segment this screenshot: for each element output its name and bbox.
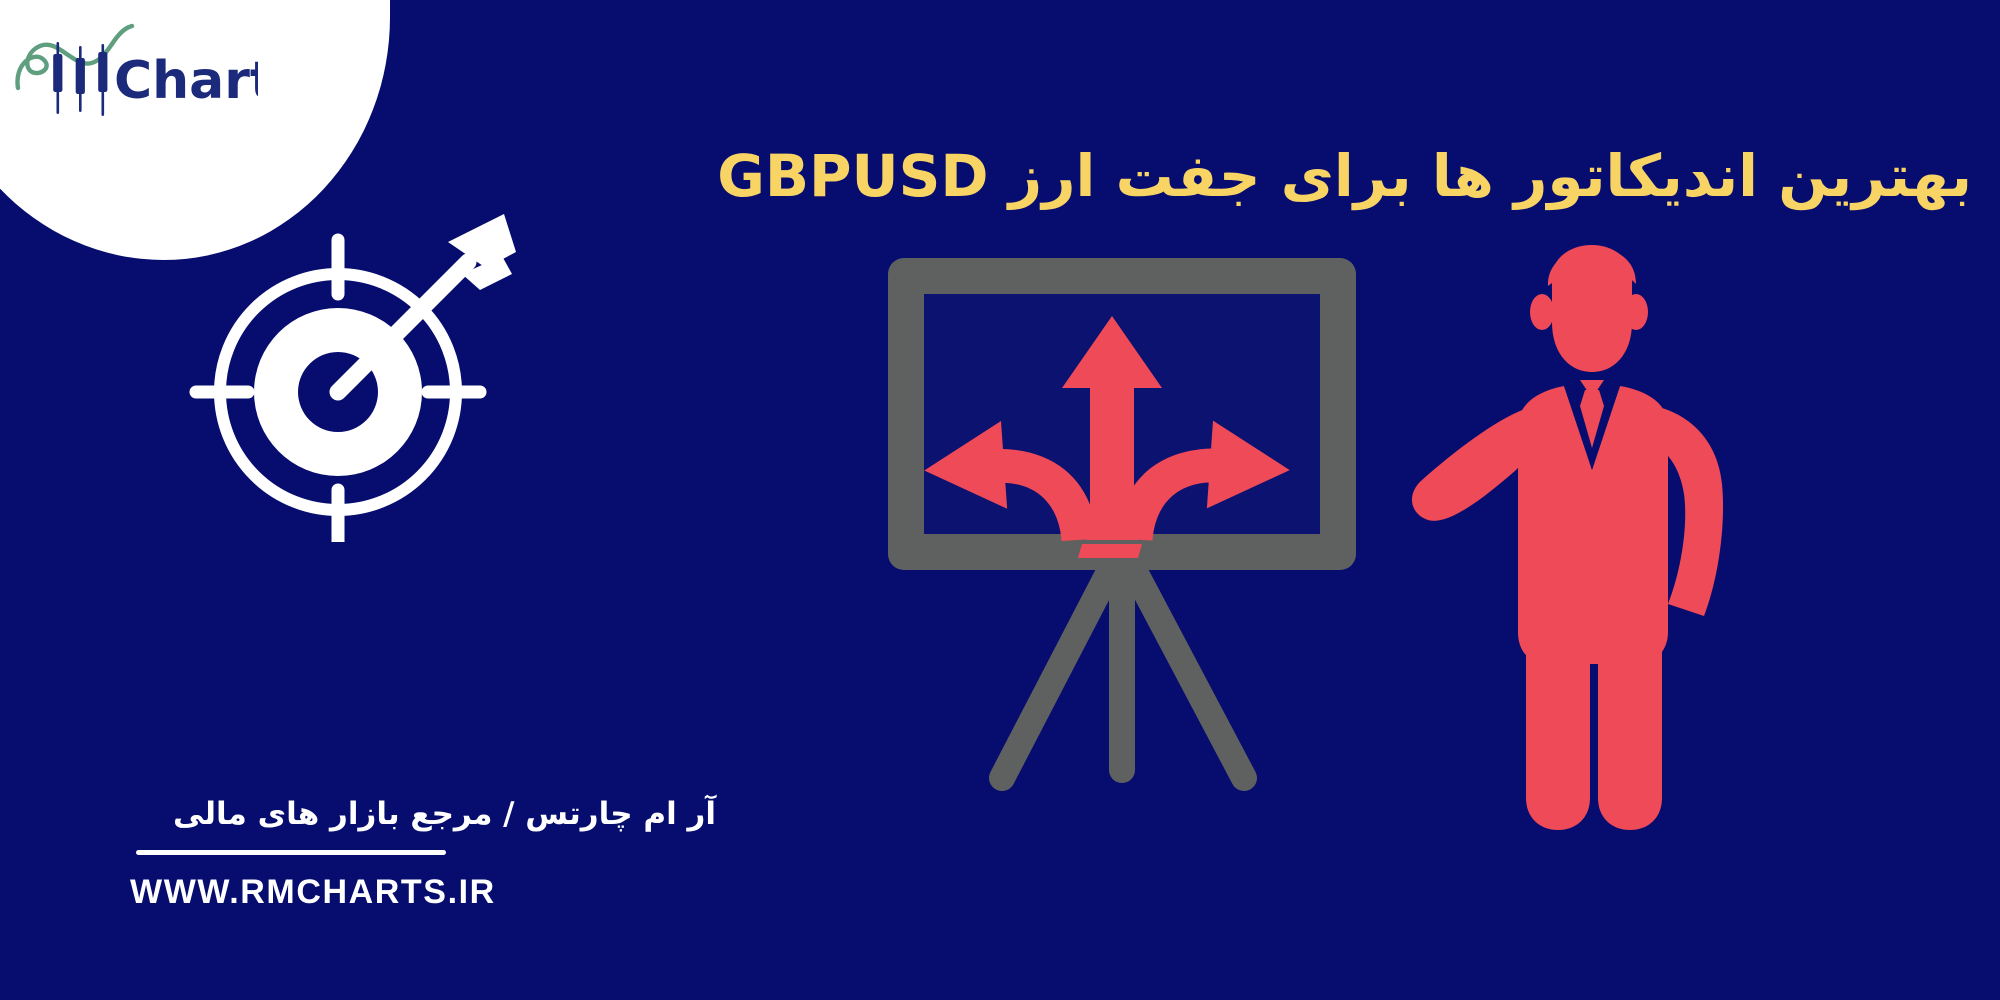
footer-tagline: آر ام چارتس / مرجع بازار های مالی bbox=[96, 795, 716, 834]
footer-website-url[interactable]: WWW.RMCHARTS.IR bbox=[96, 873, 716, 912]
footer-divider bbox=[136, 850, 446, 855]
poster-headline: بهترین اندیکاتور ها برای جفت ارز GBPUSD bbox=[412, 143, 1972, 210]
footer-block: آر ام چارتس / مرجع بازار های مالی WWW.RM… bbox=[96, 795, 716, 912]
poster-canvas: Charts بهترین اندیکاتور ها برای جفت ارز … bbox=[0, 0, 2000, 1000]
target-dart-icon bbox=[186, 212, 526, 542]
logo-wordmark: Charts bbox=[114, 51, 258, 111]
rmcharts-logo-icon: Charts bbox=[8, 16, 258, 126]
presenter-person-icon bbox=[1400, 212, 1830, 852]
